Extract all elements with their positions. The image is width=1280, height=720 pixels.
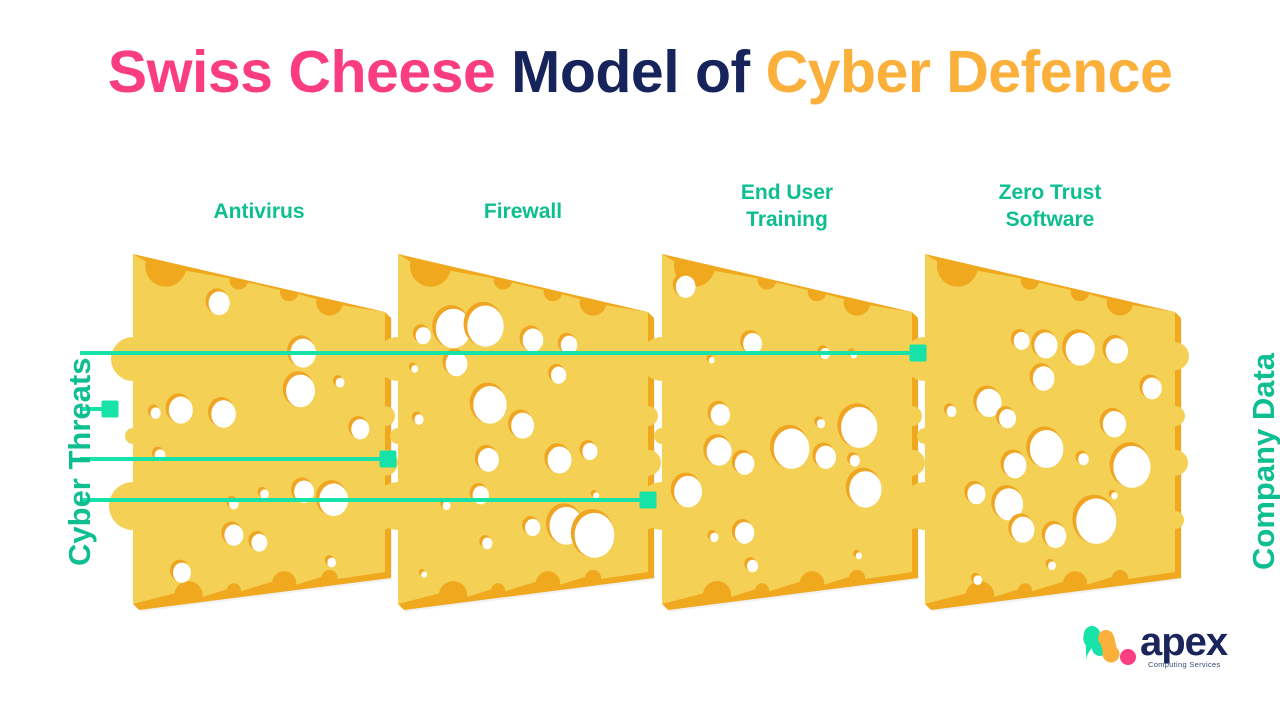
- layer-label-end-user-training: End User Training: [662, 180, 912, 234]
- layer-label-antivirus: Antivirus: [133, 199, 385, 226]
- cheese-slice: [374, 254, 662, 612]
- cheese-slice: [901, 254, 1189, 612]
- apex-logo[interactable]: apex Computing Services: [1080, 618, 1252, 680]
- side-label-cyber-threats: Cyber Threats: [62, 358, 98, 566]
- apex-logo-mark-icon: [1080, 622, 1138, 672]
- layer-label-zero-trust-software: Zero Trust Software: [925, 180, 1175, 234]
- infographic-canvas: Swiss Cheese Model of Cyber Defence Anti…: [0, 0, 1280, 720]
- side-label-company-data: Company Data: [1246, 353, 1280, 570]
- cheese-slices-group: [0, 0, 1280, 720]
- cheese-slice: [638, 254, 926, 612]
- apex-logo-tagline: Computing Services: [1148, 660, 1221, 669]
- layer-label-firewall: Firewall: [398, 199, 648, 226]
- cheese-slice: [109, 254, 399, 612]
- apex-logo-wordmark: apex: [1140, 620, 1227, 665]
